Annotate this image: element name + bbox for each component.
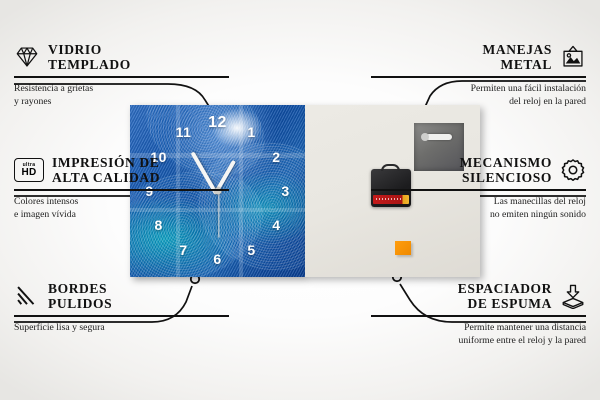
feature-desc-line2: y rayones — [14, 95, 229, 108]
diamond-icon — [14, 44, 40, 70]
feature-desc-line1: Las manecillas del reloj — [371, 195, 586, 208]
feature-title-line2: SILENCIOSO — [460, 170, 552, 185]
feature-manejas-metal: MANEJAS METAL Permiten una fácil instala… — [371, 42, 586, 108]
bevel-edge-icon — [14, 283, 40, 309]
feature-divider — [371, 189, 586, 191]
clock-numeral-3: 3 — [281, 183, 289, 199]
clock-numeral-4: 4 — [272, 217, 280, 233]
feature-mecanismo-silencioso: MECANISMO SILENCIOSO Las manecillas del … — [371, 155, 586, 221]
feature-title-line1: MANEJAS — [483, 42, 552, 57]
feature-bordes-pulidos: BORDES PULIDOS Superficie lisa y segura — [14, 281, 229, 334]
feature-vidrio-templado: VIDRIO TEMPLADO Resistencia a grietas y … — [14, 42, 229, 108]
feature-divider — [371, 76, 586, 78]
feature-title-line2: ALTA CALIDAD — [52, 170, 160, 185]
feature-title-line1: IMPRESIÓN DE — [52, 155, 160, 170]
feature-title-line1: MECANISMO — [460, 155, 552, 170]
feature-espaciador-de-espuma: ESPACIADOR DE ESPUMA Permite mantener un… — [371, 281, 586, 347]
foam-spacer — [395, 241, 411, 255]
clock-numeral-5: 5 — [247, 242, 255, 258]
feature-title-line2: PULIDOS — [48, 296, 112, 311]
spacer-arrow-icon — [560, 283, 586, 309]
feature-title-line1: ESPACIADOR — [458, 281, 552, 296]
feature-title-line1: VIDRIO — [48, 42, 131, 57]
feature-desc-line2: no emiten ningún sonido — [371, 208, 586, 221]
feature-desc-line1: Superficie lisa y segura — [14, 321, 229, 334]
feature-divider — [14, 315, 229, 317]
clock-numeral-7: 7 — [179, 242, 187, 258]
feature-desc-line1: Resistencia a grietas — [14, 82, 229, 95]
feature-desc-line2: e imagen vívida — [14, 208, 229, 221]
feature-desc-line1: Permite mantener una distancia — [371, 321, 586, 334]
feature-divider — [14, 189, 229, 191]
clock-numeral-2: 2 — [272, 149, 280, 165]
infographic-stage: 121234567891011 — [0, 0, 600, 400]
feature-desc-line2: uniforme entre el reloj y la pared — [371, 334, 586, 347]
picture-hanger-icon — [560, 44, 586, 70]
feature-desc-line1: Colores intensos — [14, 195, 229, 208]
clock-numeral-6: 6 — [213, 251, 221, 267]
clock-numeral-11: 11 — [176, 124, 192, 140]
feature-desc-line1: Permiten una fácil instalación — [371, 82, 586, 95]
feature-divider — [14, 76, 229, 78]
clock-numeral-1: 1 — [247, 124, 255, 140]
feature-desc-line2: del reloj en la pared — [371, 95, 586, 108]
feature-divider — [371, 315, 586, 317]
feature-title-line2: METAL — [483, 57, 552, 72]
clock-numeral-12: 12 — [208, 114, 227, 132]
ultra-hd-icon: ultra HD — [14, 158, 44, 182]
feature-title-line1: BORDES — [48, 281, 112, 296]
hd-icon-big-label: HD — [21, 168, 36, 178]
gear-icon — [560, 157, 586, 183]
feature-impresion-alta-calidad: ultra HD IMPRESIÓN DE ALTA CALIDAD Color… — [14, 155, 229, 221]
feature-title-line2: DE ESPUMA — [458, 296, 552, 311]
feature-title-line2: TEMPLADO — [48, 57, 131, 72]
